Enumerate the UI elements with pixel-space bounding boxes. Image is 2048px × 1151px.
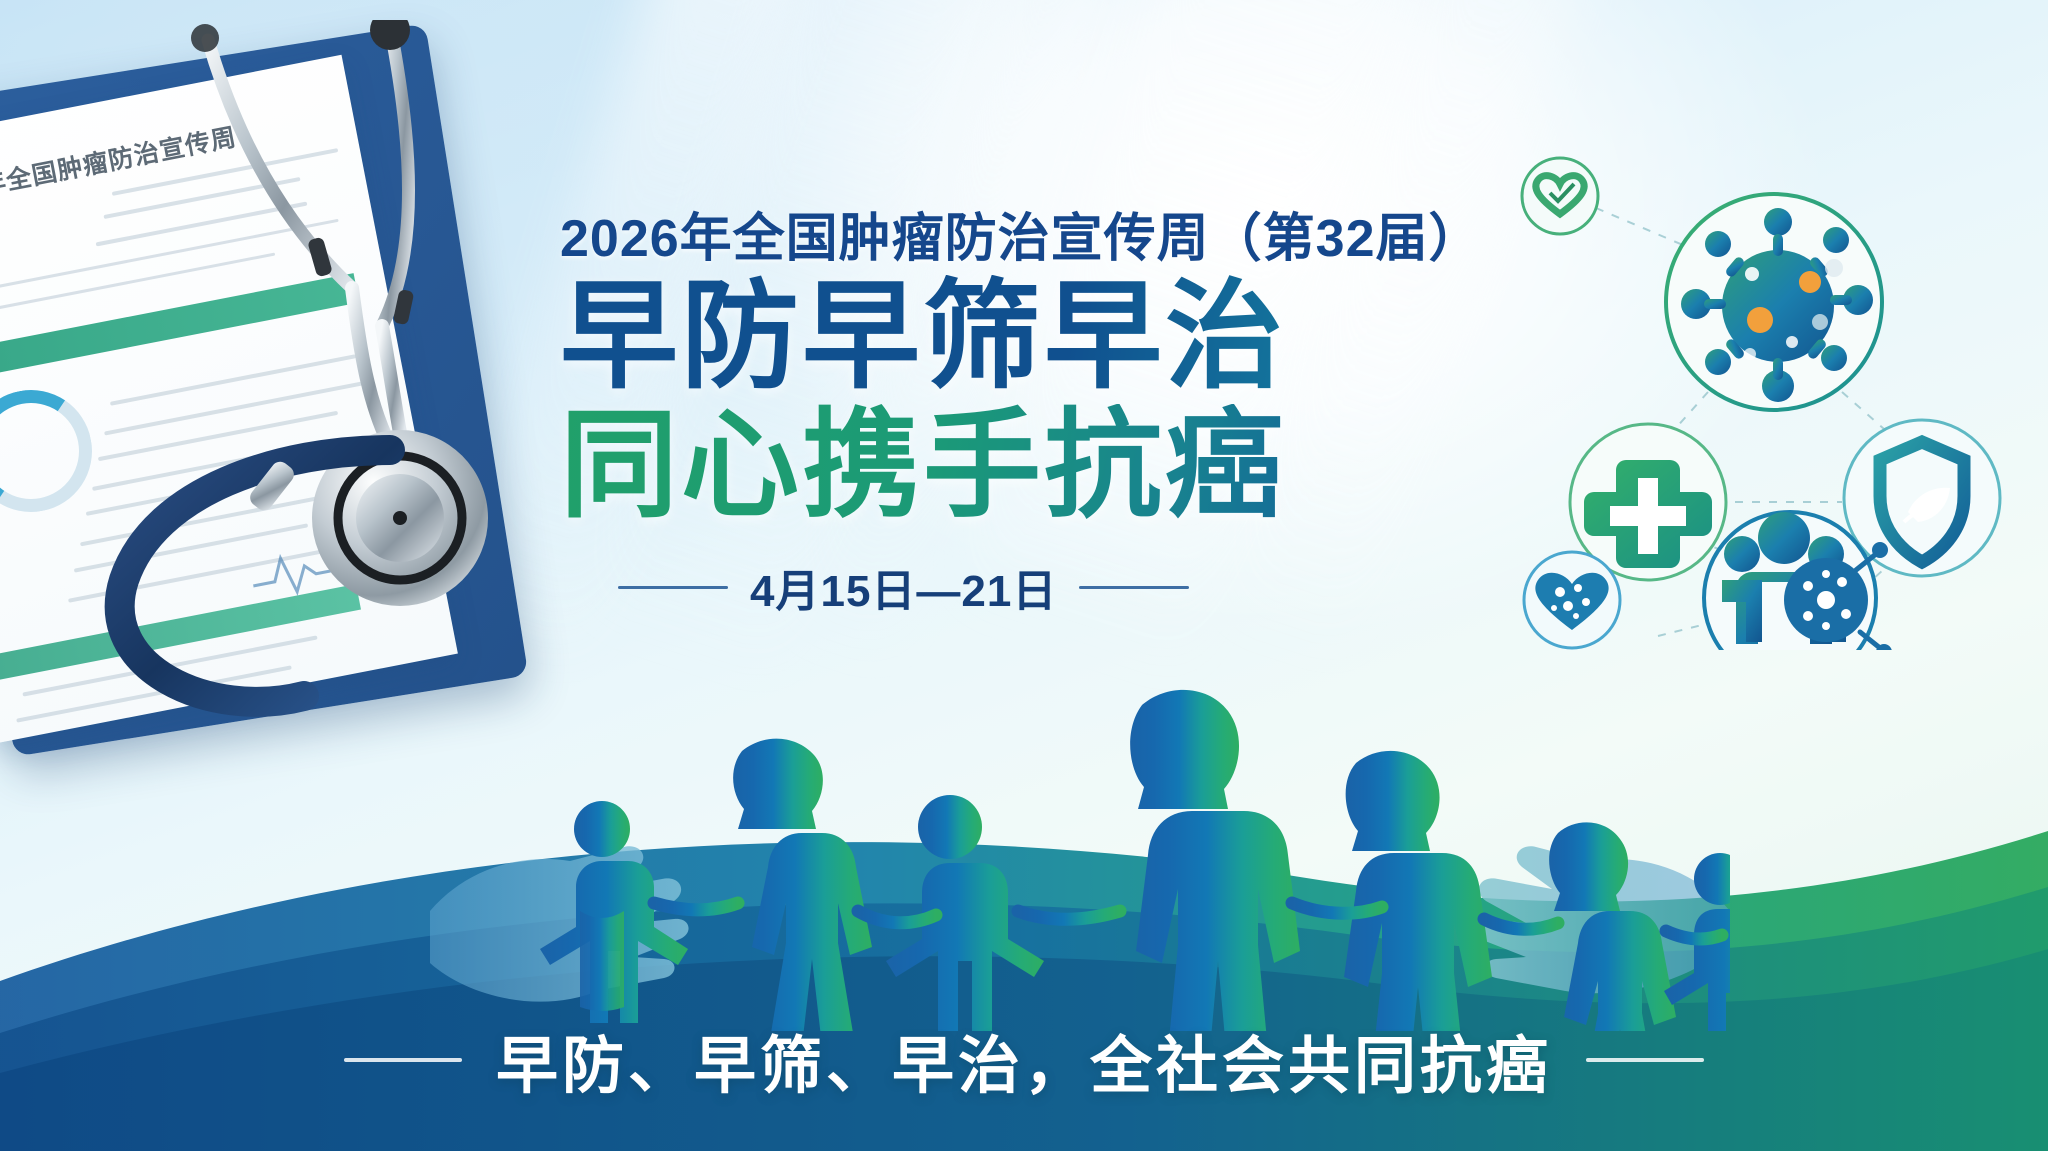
virus-cell-icon <box>1666 194 1882 410</box>
banner-poster: 年全国肿瘤防治宣传周 <box>0 0 2048 1151</box>
slogan-text: 早防、早筛、早治，全社会共同抗癌 <box>496 1015 1552 1105</box>
slogan-rule-right <box>1586 1058 1704 1062</box>
shield-leaf-icon <box>1844 420 2000 576</box>
family-silhouettes <box>430 611 1730 1031</box>
headline-line-1: 早防早筛早治 <box>560 275 1540 400</box>
headline-line-2: 同心携手抗癌 <box>560 404 1540 529</box>
date-row: 4月15日—21日 <box>560 555 1540 619</box>
campaign-date: 4月15日—21日 <box>750 555 1057 619</box>
campaign-subtitle: 2026年全国肿瘤防治宣传周（第32届） <box>560 196 1540 271</box>
date-rule-left <box>618 586 728 589</box>
slogan-rule-left <box>344 1058 462 1062</box>
medical-icon-cluster <box>1490 130 2030 650</box>
slogan-bar: 早防、早筛、早治，全社会共同抗癌 <box>0 1015 2048 1105</box>
date-rule-right <box>1079 586 1189 589</box>
heart-check-icon <box>1522 158 1598 234</box>
headline-block: 2026年全国肿瘤防治宣传周（第32届） 早防早筛早治 同心携手抗癌 4月15日… <box>560 196 1540 619</box>
